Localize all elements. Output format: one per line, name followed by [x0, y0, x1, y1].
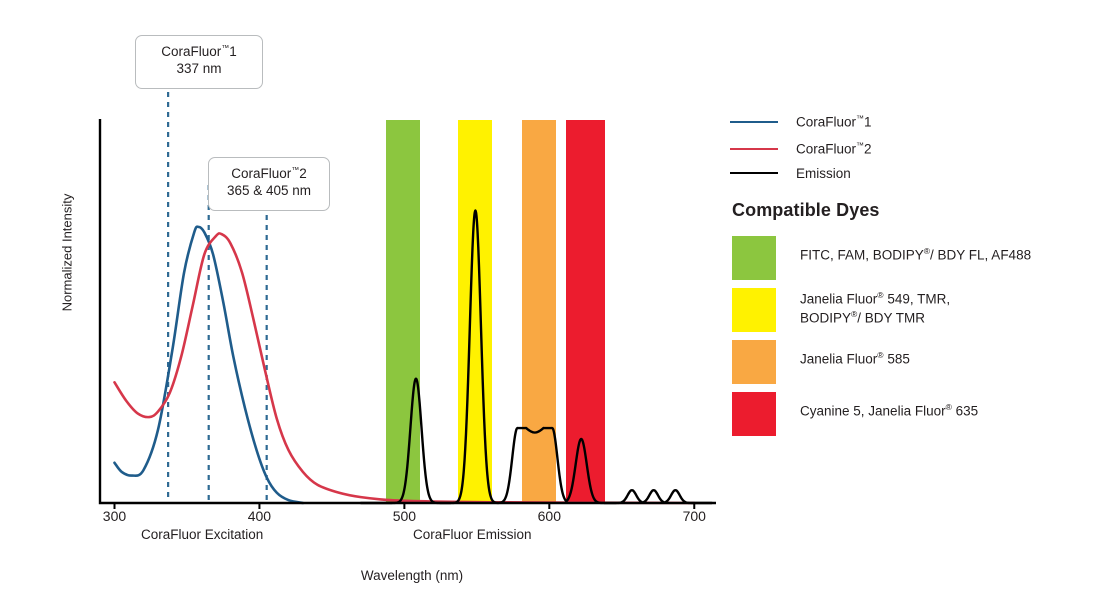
x-tick-label: 300	[84, 508, 144, 524]
emission-band	[386, 120, 420, 503]
dye-color-swatch	[732, 288, 776, 332]
emission-band	[566, 120, 605, 503]
dye-color-swatch	[732, 340, 776, 384]
x-tick-label: 600	[519, 508, 579, 524]
dye-entry: FITC, FAM, BODIPY®/ BDY FL, AF488	[732, 236, 1031, 280]
emission-section-label: CoraFluor Emission	[413, 527, 532, 542]
y-axis-label: Normalized Intensity	[60, 178, 75, 328]
legend-item-emission: Emission	[730, 164, 851, 182]
trademark-symbol: ™	[856, 141, 864, 150]
legend-item-label: CoraFluor™1	[796, 114, 872, 130]
emission-band	[458, 120, 492, 503]
callout-cf2-value: 365 & 405 nm	[219, 182, 319, 199]
legend-item-corafluor-1: CoraFluor™1	[730, 113, 872, 131]
x-tick-label: 400	[229, 508, 289, 524]
legend-item-corafluor-2: CoraFluor™2	[730, 140, 872, 158]
legend-line-swatch	[730, 121, 778, 124]
legend-panel: CoraFluor™1 CoraFluor™2 Emission Compati…	[730, 0, 1110, 612]
callout-cf1-title: CoraFluor™1	[146, 43, 252, 60]
callout-corafluor-2: CoraFluor™2 365 & 405 nm	[208, 157, 330, 211]
x-axis-label: Wavelength (nm)	[292, 568, 532, 583]
callout-cf2-title: CoraFluor™2	[219, 165, 319, 182]
dye-label: Cyanine 5, Janelia Fluor® 635	[800, 392, 978, 421]
dye-label: Janelia Fluor® 585	[800, 340, 910, 369]
dye-entry: Janelia Fluor® 585	[732, 340, 910, 384]
legend-item-label: CoraFluor™2	[796, 141, 872, 157]
dye-entry: Cyanine 5, Janelia Fluor® 635	[732, 392, 978, 436]
dye-entry: Janelia Fluor® 549, TMR,BODIPY®/ BDY TMR	[732, 288, 950, 332]
dye-color-swatch	[732, 236, 776, 280]
compatible-dyes-heading: Compatible Dyes	[732, 200, 880, 221]
callout-corafluor-1: CoraFluor™1 337 nm	[135, 35, 263, 89]
legend-line-swatch	[730, 148, 778, 151]
callout-cf1-value: 337 nm	[146, 60, 252, 77]
figure-root: Normalized Intensity Wavelength (nm) Cor…	[0, 0, 1110, 612]
x-tick-label: 700	[664, 508, 724, 524]
dye-label: FITC, FAM, BODIPY®/ BDY FL, AF488	[800, 236, 1031, 265]
dye-label: Janelia Fluor® 549, TMR,BODIPY®/ BDY TMR	[800, 288, 950, 327]
trademark-symbol: ™	[856, 114, 864, 123]
legend-line-swatch	[730, 172, 778, 175]
x-tick-label: 500	[374, 508, 434, 524]
spectra-chart: Normalized Intensity Wavelength (nm) Cor…	[0, 0, 730, 612]
excitation-section-label: CoraFluor Excitation	[141, 527, 263, 542]
emission-band	[522, 120, 556, 503]
dye-color-swatch	[732, 392, 776, 436]
legend-item-label: Emission	[796, 166, 851, 181]
